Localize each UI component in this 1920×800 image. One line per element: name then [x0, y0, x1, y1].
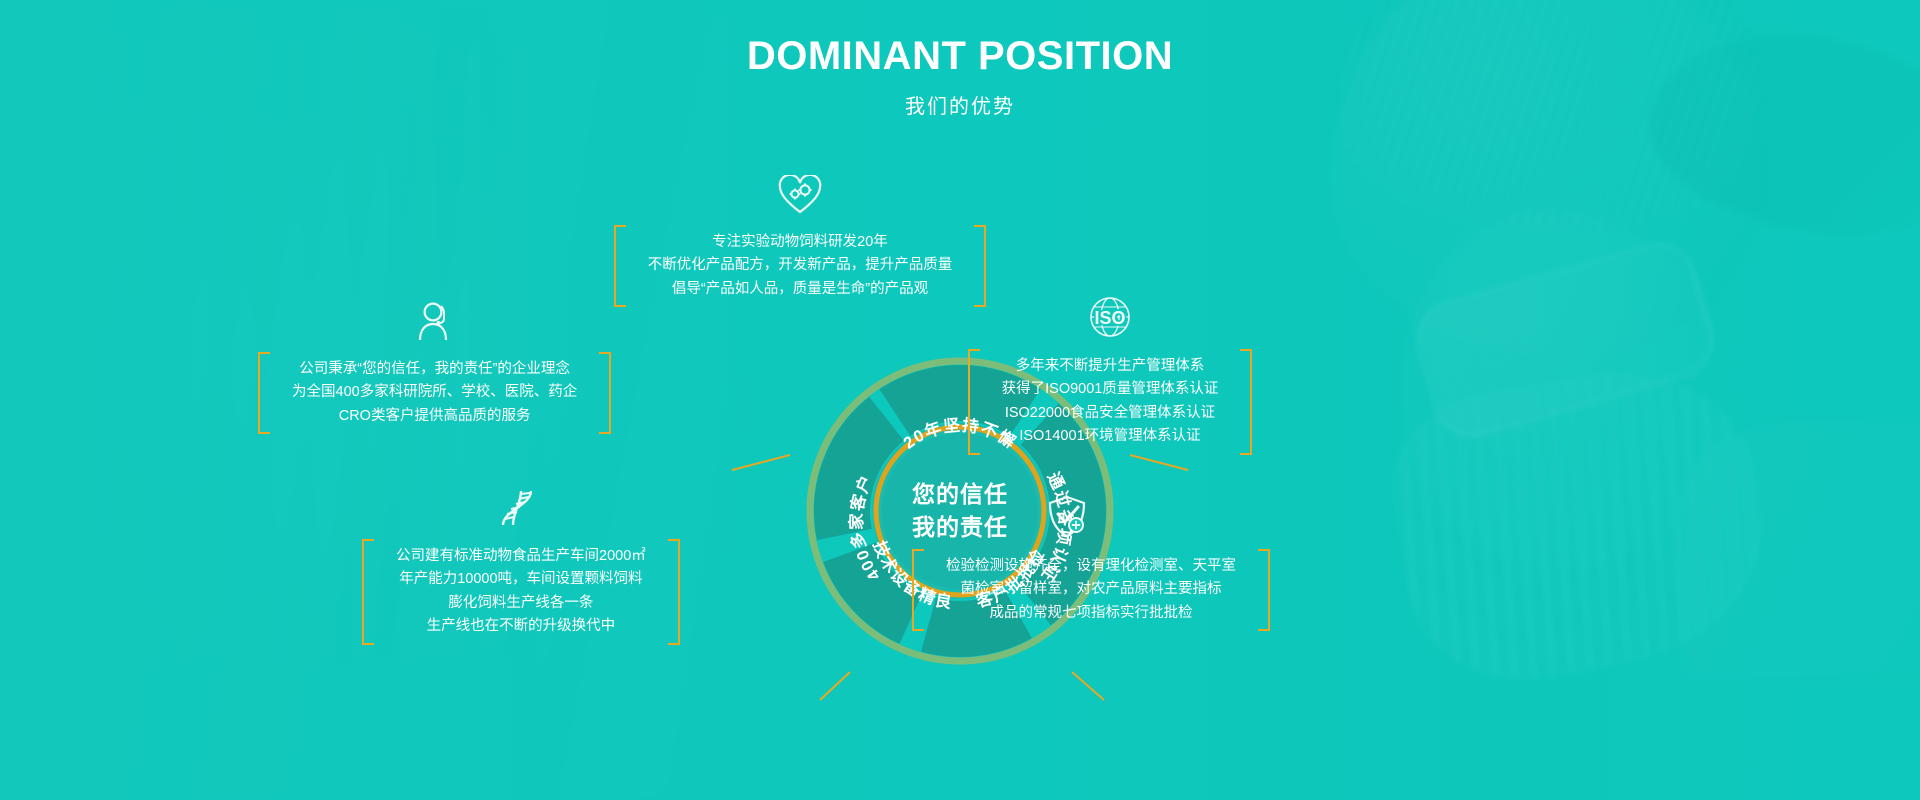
block-rnd-line-3: 倡导“产品如人品，质量是生命”的产品观	[648, 278, 953, 301]
iso-globe-icon: ISO	[960, 295, 1260, 339]
block-inspection: 检验检测设施齐全，设有理化检测室、天平室 菌检室、留样室，对农产品原料主要指标 …	[912, 495, 1222, 631]
block-service-line-2: 为全国400多家科研院所、学校、医院、药企	[292, 381, 577, 404]
block-production-line-4: 生产线也在不断的升级换代中	[396, 615, 646, 638]
bracket-right	[599, 352, 611, 434]
block-rnd-text: 专注实验动物饲料研发20年 不断优化产品配方，开发新产品，提升产品质量 倡导“产…	[614, 225, 987, 307]
bracket-left	[258, 352, 270, 434]
block-certification-line-1: 多年来不断提升生产管理体系	[1002, 355, 1219, 378]
bracket-left	[912, 549, 924, 631]
block-service-text: 公司秉承“您的信任，我的责任”的企业理念 为全国400多家科研院所、学校、医院、…	[258, 352, 611, 434]
shield-check-icon	[912, 495, 1222, 539]
bracket-left	[362, 539, 374, 645]
block-production: 公司建有标准动物食品生产车间2000㎡ 年产能力10000吨，车间设置颗料饲料 …	[362, 487, 672, 645]
block-production-line-1: 公司建有标准动物食品生产车间2000㎡	[396, 545, 646, 568]
dna-helix-icon	[362, 487, 672, 529]
customer-service-icon	[258, 300, 608, 342]
block-certification-line-3: ISO22000食品安全管理体系认证	[1002, 402, 1219, 425]
block-rnd-line-2: 不断优化产品配方，开发新产品，提升产品质量	[648, 254, 953, 277]
block-certification-line-2: 获得了ISO9001质量管理体系认证	[1002, 378, 1219, 401]
bracket-right	[668, 539, 680, 645]
block-inspection-line-1: 检验检测设施齐全，设有理化检测室、天平室	[946, 555, 1236, 578]
connector-right	[1130, 455, 1188, 470]
bracket-right	[1258, 549, 1270, 631]
block-service-line-3: CRO类客户提供高品质的服务	[292, 405, 577, 428]
block-certification-line-4: ISO14001环境管理体系认证	[1002, 425, 1219, 448]
block-inspection-text: 检验检测设施齐全，设有理化检测室、天平室 菌检室、留样室，对农产品原料主要指标 …	[912, 549, 1270, 631]
block-production-line-3: 膨化饲料生产线各一条	[396, 592, 646, 615]
bracket-left	[968, 349, 980, 455]
bracket-left	[614, 225, 626, 307]
block-production-line-2: 年产能力10000吨，车间设置颗料饲料	[396, 568, 646, 591]
connector-bottom-left	[820, 672, 850, 700]
connector-left	[732, 455, 790, 470]
bracket-right	[1240, 349, 1252, 455]
block-inspection-line-3: 成品的常规七项指标实行批批检	[946, 602, 1236, 625]
block-rnd: 专注实验动物饲料研发20年 不断优化产品配方，开发新产品，提升产品质量 倡导“产…	[600, 175, 1000, 307]
block-inspection-line-2: 菌检室、留样室，对农产品原料主要指标	[946, 578, 1236, 601]
connector-bottom-right	[1072, 672, 1104, 700]
block-service: 公司秉承“您的信任，我的责任”的企业理念 为全国400多家科研院所、学校、医院、…	[258, 300, 608, 434]
block-service-line-1: 公司秉承“您的信任，我的责任”的企业理念	[292, 358, 577, 381]
block-rnd-line-1: 专注实验动物饲料研发20年	[648, 231, 953, 254]
heart-gears-icon	[600, 175, 1000, 215]
svg-text:ISO: ISO	[1094, 308, 1125, 328]
block-production-text: 公司建有标准动物食品生产车间2000㎡ 年产能力10000吨，车间设置颗料饲料 …	[362, 539, 680, 645]
block-certification: ISO 多年来不断提升生产管理体系 获得了ISO9001质量管理体系认证 ISO…	[960, 295, 1260, 455]
block-certification-text: 多年来不断提升生产管理体系 获得了ISO9001质量管理体系认证 ISO2200…	[968, 349, 1253, 455]
